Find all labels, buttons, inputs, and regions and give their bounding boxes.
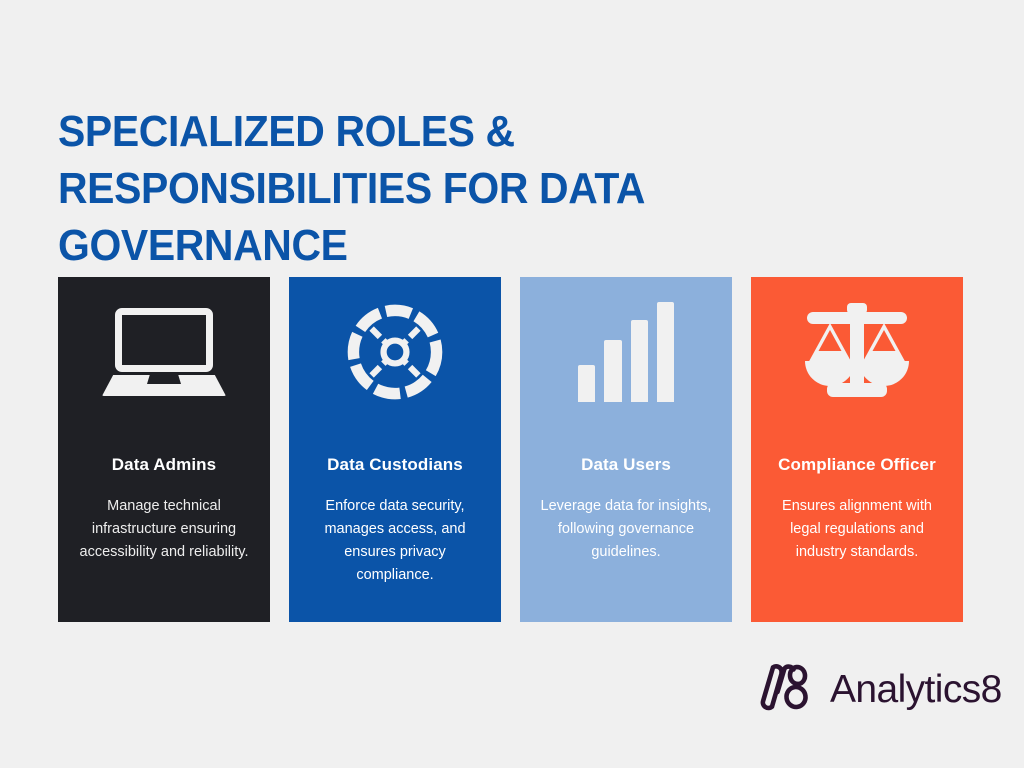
role-card-title: Data Admins [112, 455, 216, 475]
bar-chart-bar [631, 320, 648, 402]
analytics8-logo[interactable]: Analytics8 [760, 664, 1002, 714]
role-card-title: Data Custodians [327, 455, 463, 475]
bar-chart-bar [657, 302, 674, 402]
analytics8-logo-mark [760, 664, 816, 714]
laptop-icon [68, 277, 260, 427]
role-card-data-admins[interactable]: Data Admins Manage technical infrastruct… [58, 277, 270, 622]
role-card-data-users[interactable]: Data Users Leverage data for insights, f… [520, 277, 732, 622]
bar-chart-icon [530, 277, 722, 427]
bar-chart-bar [578, 365, 595, 402]
bar-chart-bar [604, 340, 621, 402]
role-card-description: Ensures alignment with legal regulations… [761, 495, 953, 564]
role-card-title: Compliance Officer [778, 455, 936, 475]
vault-dial-icon [299, 277, 491, 427]
role-card-data-custodians[interactable]: Data Custodians Enforce data security, m… [289, 277, 501, 622]
scales-of-justice-icon [761, 277, 953, 427]
role-card-description: Manage technical infrastructure ensuring… [68, 495, 260, 564]
role-card-title: Data Users [581, 455, 671, 475]
role-card-description: Leverage data for insights, following go… [530, 495, 722, 564]
role-card-compliance-officer[interactable]: Compliance Officer Ensures alignment wit… [751, 277, 963, 622]
page-title: SPECIALIZED ROLES & RESPONSIBILITIES FOR… [58, 103, 709, 274]
role-card-description: Enforce data security, manages access, a… [299, 495, 491, 587]
roles-card-row: Data Admins Manage technical infrastruct… [58, 277, 966, 622]
analytics8-logo-text: Analytics8 [830, 670, 1002, 709]
